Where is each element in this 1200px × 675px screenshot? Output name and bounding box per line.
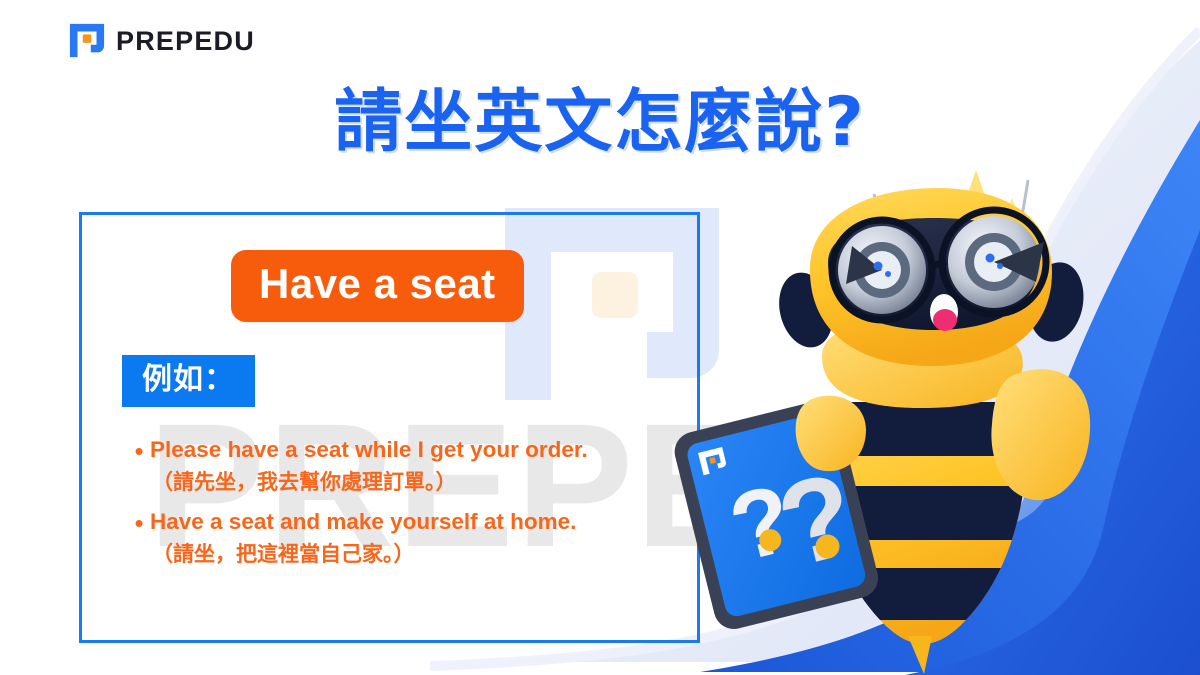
bullet-icon: • <box>128 434 150 468</box>
prepedu-square-p-logo-icon <box>68 22 106 60</box>
examples-label-badge: 例如： <box>122 355 255 407</box>
example-chinese: （請坐，把這裡當自己家。） <box>150 538 688 570</box>
bullet-icon: • <box>128 506 150 540</box>
list-item: • Have a seat and make yourself at home.… <box>128 506 688 570</box>
phrase-pill: Have a seat <box>231 250 524 322</box>
example-chinese: （請先坐，我去幫你處理訂單。） <box>150 466 688 498</box>
example-english: Please have a seat while I get your orde… <box>150 434 688 466</box>
list-item: • Please have a seat while I get your or… <box>128 434 688 498</box>
bee-robot-mascot: ? ? <box>660 150 1120 675</box>
brand-logo[interactable]: PREPEDU <box>68 22 255 60</box>
slide-canvas: PREPEDU PREPEDU 請坐英文怎麼說? Have a seat 例如：… <box>0 0 1200 675</box>
brand-logo-text: PREPEDU <box>116 28 255 55</box>
bee-head <box>810 188 1052 366</box>
example-english: Have a seat and make yourself at home. <box>150 506 688 538</box>
arm <box>991 369 1090 500</box>
examples-list: • Please have a seat while I get your or… <box>128 434 688 578</box>
